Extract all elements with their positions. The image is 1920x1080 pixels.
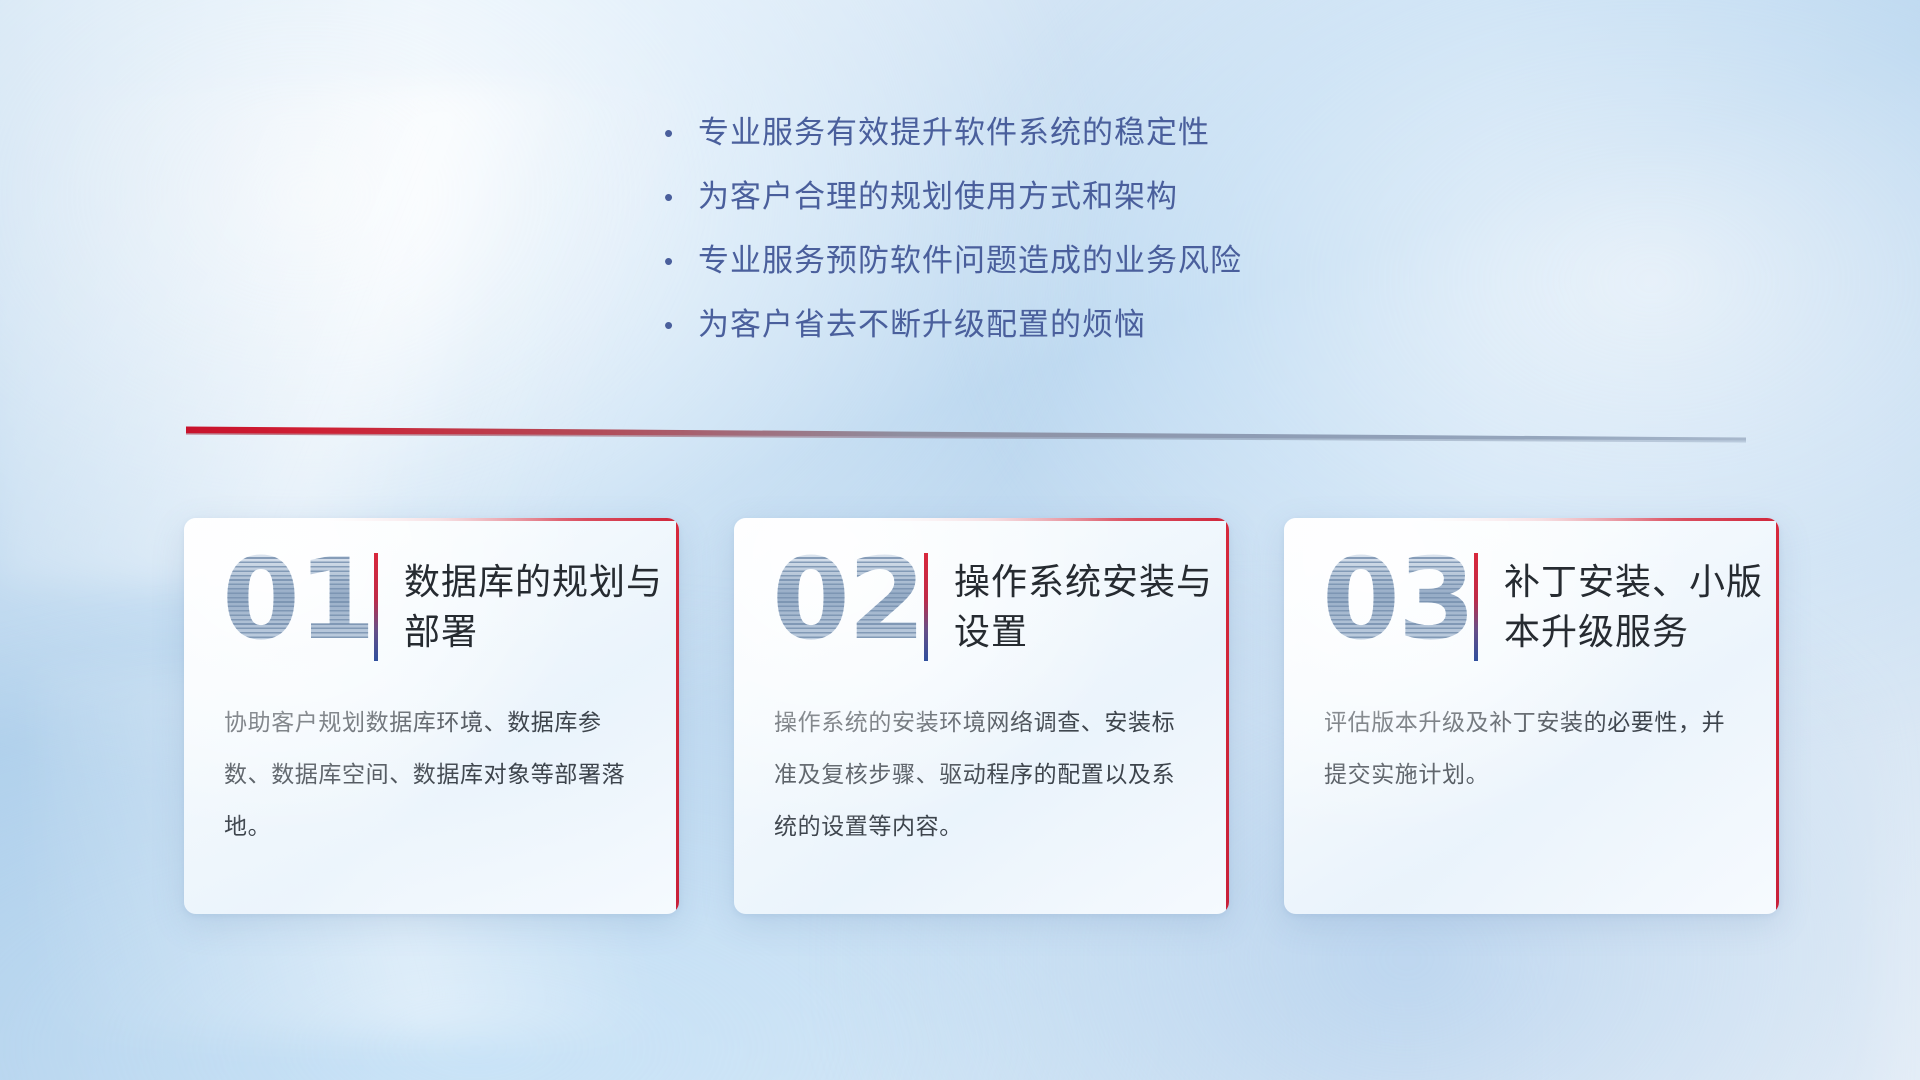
bullet-text: 专业服务预防软件问题造成的业务风险	[698, 240, 1242, 282]
service-card-02[interactable]: 02 操作系统安装与设置 操作系统的安装环境网络调查、安装标准及复核步骤、驱动程…	[734, 518, 1229, 914]
card-body-text: 协助客户规划数据库环境、数据库参数、数据库空间、数据库对象等部署落地。	[184, 696, 679, 852]
card-body-text: 操作系统的安装环境网络调查、安装标准及复核步骤、驱动程序的配置以及系统的设置等内…	[734, 696, 1229, 852]
card-number-watermark: 01	[222, 548, 354, 666]
card-body-text: 评估版本升级及补丁安装的必要性，并提交实施计划。	[1284, 696, 1779, 800]
card-title: 数据库的规划与部署	[404, 557, 674, 657]
card-number-watermark: 03	[1322, 548, 1454, 666]
card-number-text: 02	[772, 544, 924, 656]
card-accent-bar	[374, 553, 378, 661]
card-row: 01 数据库的规划与部署 协助客户规划数据库环境、数据库参数、数据库空间、数据库…	[184, 518, 1779, 914]
bullet-dot-icon: •	[664, 304, 698, 346]
card-accent-bar	[1474, 553, 1478, 661]
list-item: • 为客户合理的规划使用方式和架构	[664, 176, 1424, 218]
divider-wedge-icon	[186, 425, 1746, 445]
card-header: 01 数据库的规划与部署	[184, 518, 679, 696]
card-header: 03 补丁安装、小版本升级服务	[1284, 518, 1779, 696]
card-number-text: 03	[1322, 544, 1474, 656]
bullet-text: 专业服务有效提升软件系统的稳定性	[698, 112, 1210, 154]
card-accent-bar	[924, 553, 928, 661]
card-title: 操作系统安装与设置	[954, 557, 1224, 657]
bullet-dot-icon: •	[664, 112, 698, 154]
card-number-watermark: 02	[772, 548, 904, 666]
bullet-text: 为客户合理的规划使用方式和架构	[698, 176, 1178, 218]
list-item: • 专业服务有效提升软件系统的稳定性	[664, 112, 1424, 154]
service-card-01[interactable]: 01 数据库的规划与部署 协助客户规划数据库环境、数据库参数、数据库空间、数据库…	[184, 518, 679, 914]
card-title: 补丁安装、小版本升级服务	[1504, 557, 1774, 657]
card-header: 02 操作系统安装与设置	[734, 518, 1229, 696]
bullet-list: • 专业服务有效提升软件系统的稳定性 • 为客户合理的规划使用方式和架构 • 专…	[664, 112, 1424, 368]
divider	[186, 425, 1746, 445]
list-item: • 为客户省去不断升级配置的烦恼	[664, 304, 1424, 346]
bullet-dot-icon: •	[664, 176, 698, 218]
bullet-dot-icon: •	[664, 240, 698, 282]
list-item: • 专业服务预防软件问题造成的业务风险	[664, 240, 1424, 282]
bullet-text: 为客户省去不断升级配置的烦恼	[698, 304, 1146, 346]
card-number-text: 01	[222, 544, 374, 656]
service-card-03[interactable]: 03 补丁安装、小版本升级服务 评估版本升级及补丁安装的必要性，并提交实施计划。	[1284, 518, 1779, 914]
